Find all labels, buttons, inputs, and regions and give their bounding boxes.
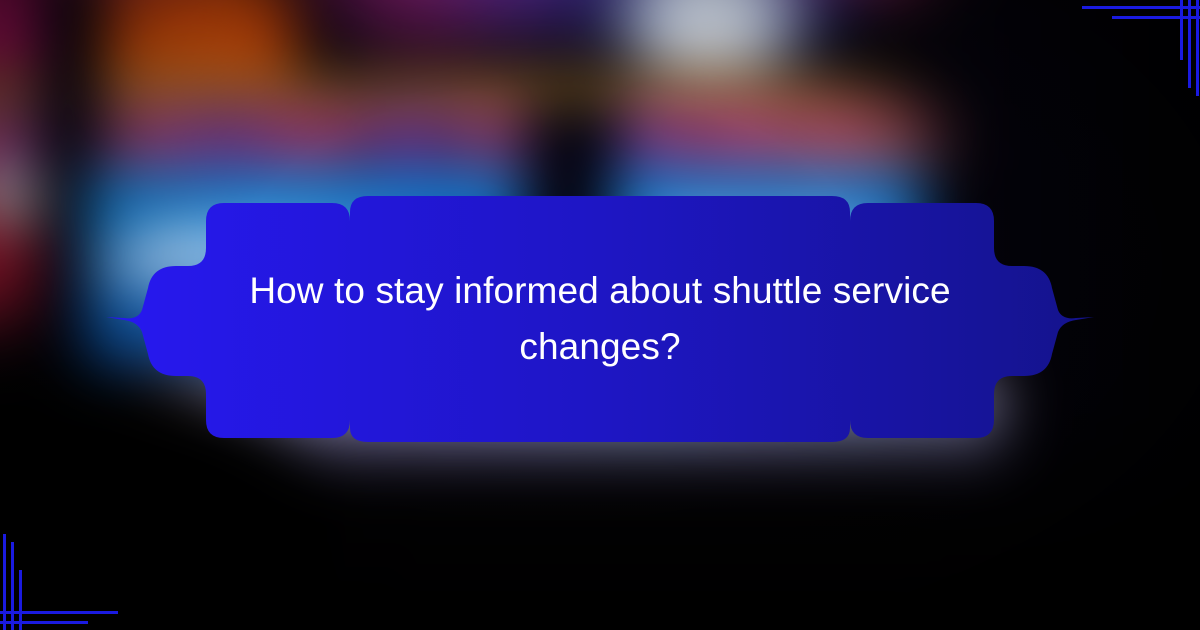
corner-bracket-top-right-line-4 bbox=[1082, 6, 1200, 9]
corner-bracket-top-right-line-1 bbox=[1196, 0, 1199, 96]
banner-title: How to stay informed about shuttle servi… bbox=[210, 263, 990, 375]
corner-bracket-top-right-line-2 bbox=[1188, 0, 1191, 88]
corner-bracket-bottom-left-line-4 bbox=[0, 611, 118, 614]
corner-bracket-bottom-left-line-2 bbox=[11, 542, 14, 630]
corner-bracket-top-right-line-5 bbox=[1112, 16, 1200, 19]
banner-text-block: How to stay informed about shuttle servi… bbox=[132, 205, 1068, 433]
corner-bracket-top-right-line-3 bbox=[1180, 0, 1183, 60]
screenshot-canvas: How to stay informed about shuttle servi… bbox=[0, 0, 1200, 630]
corner-bracket-bottom-left-line-1 bbox=[3, 534, 6, 630]
corner-bracket-bottom-left-line-5 bbox=[0, 621, 88, 624]
